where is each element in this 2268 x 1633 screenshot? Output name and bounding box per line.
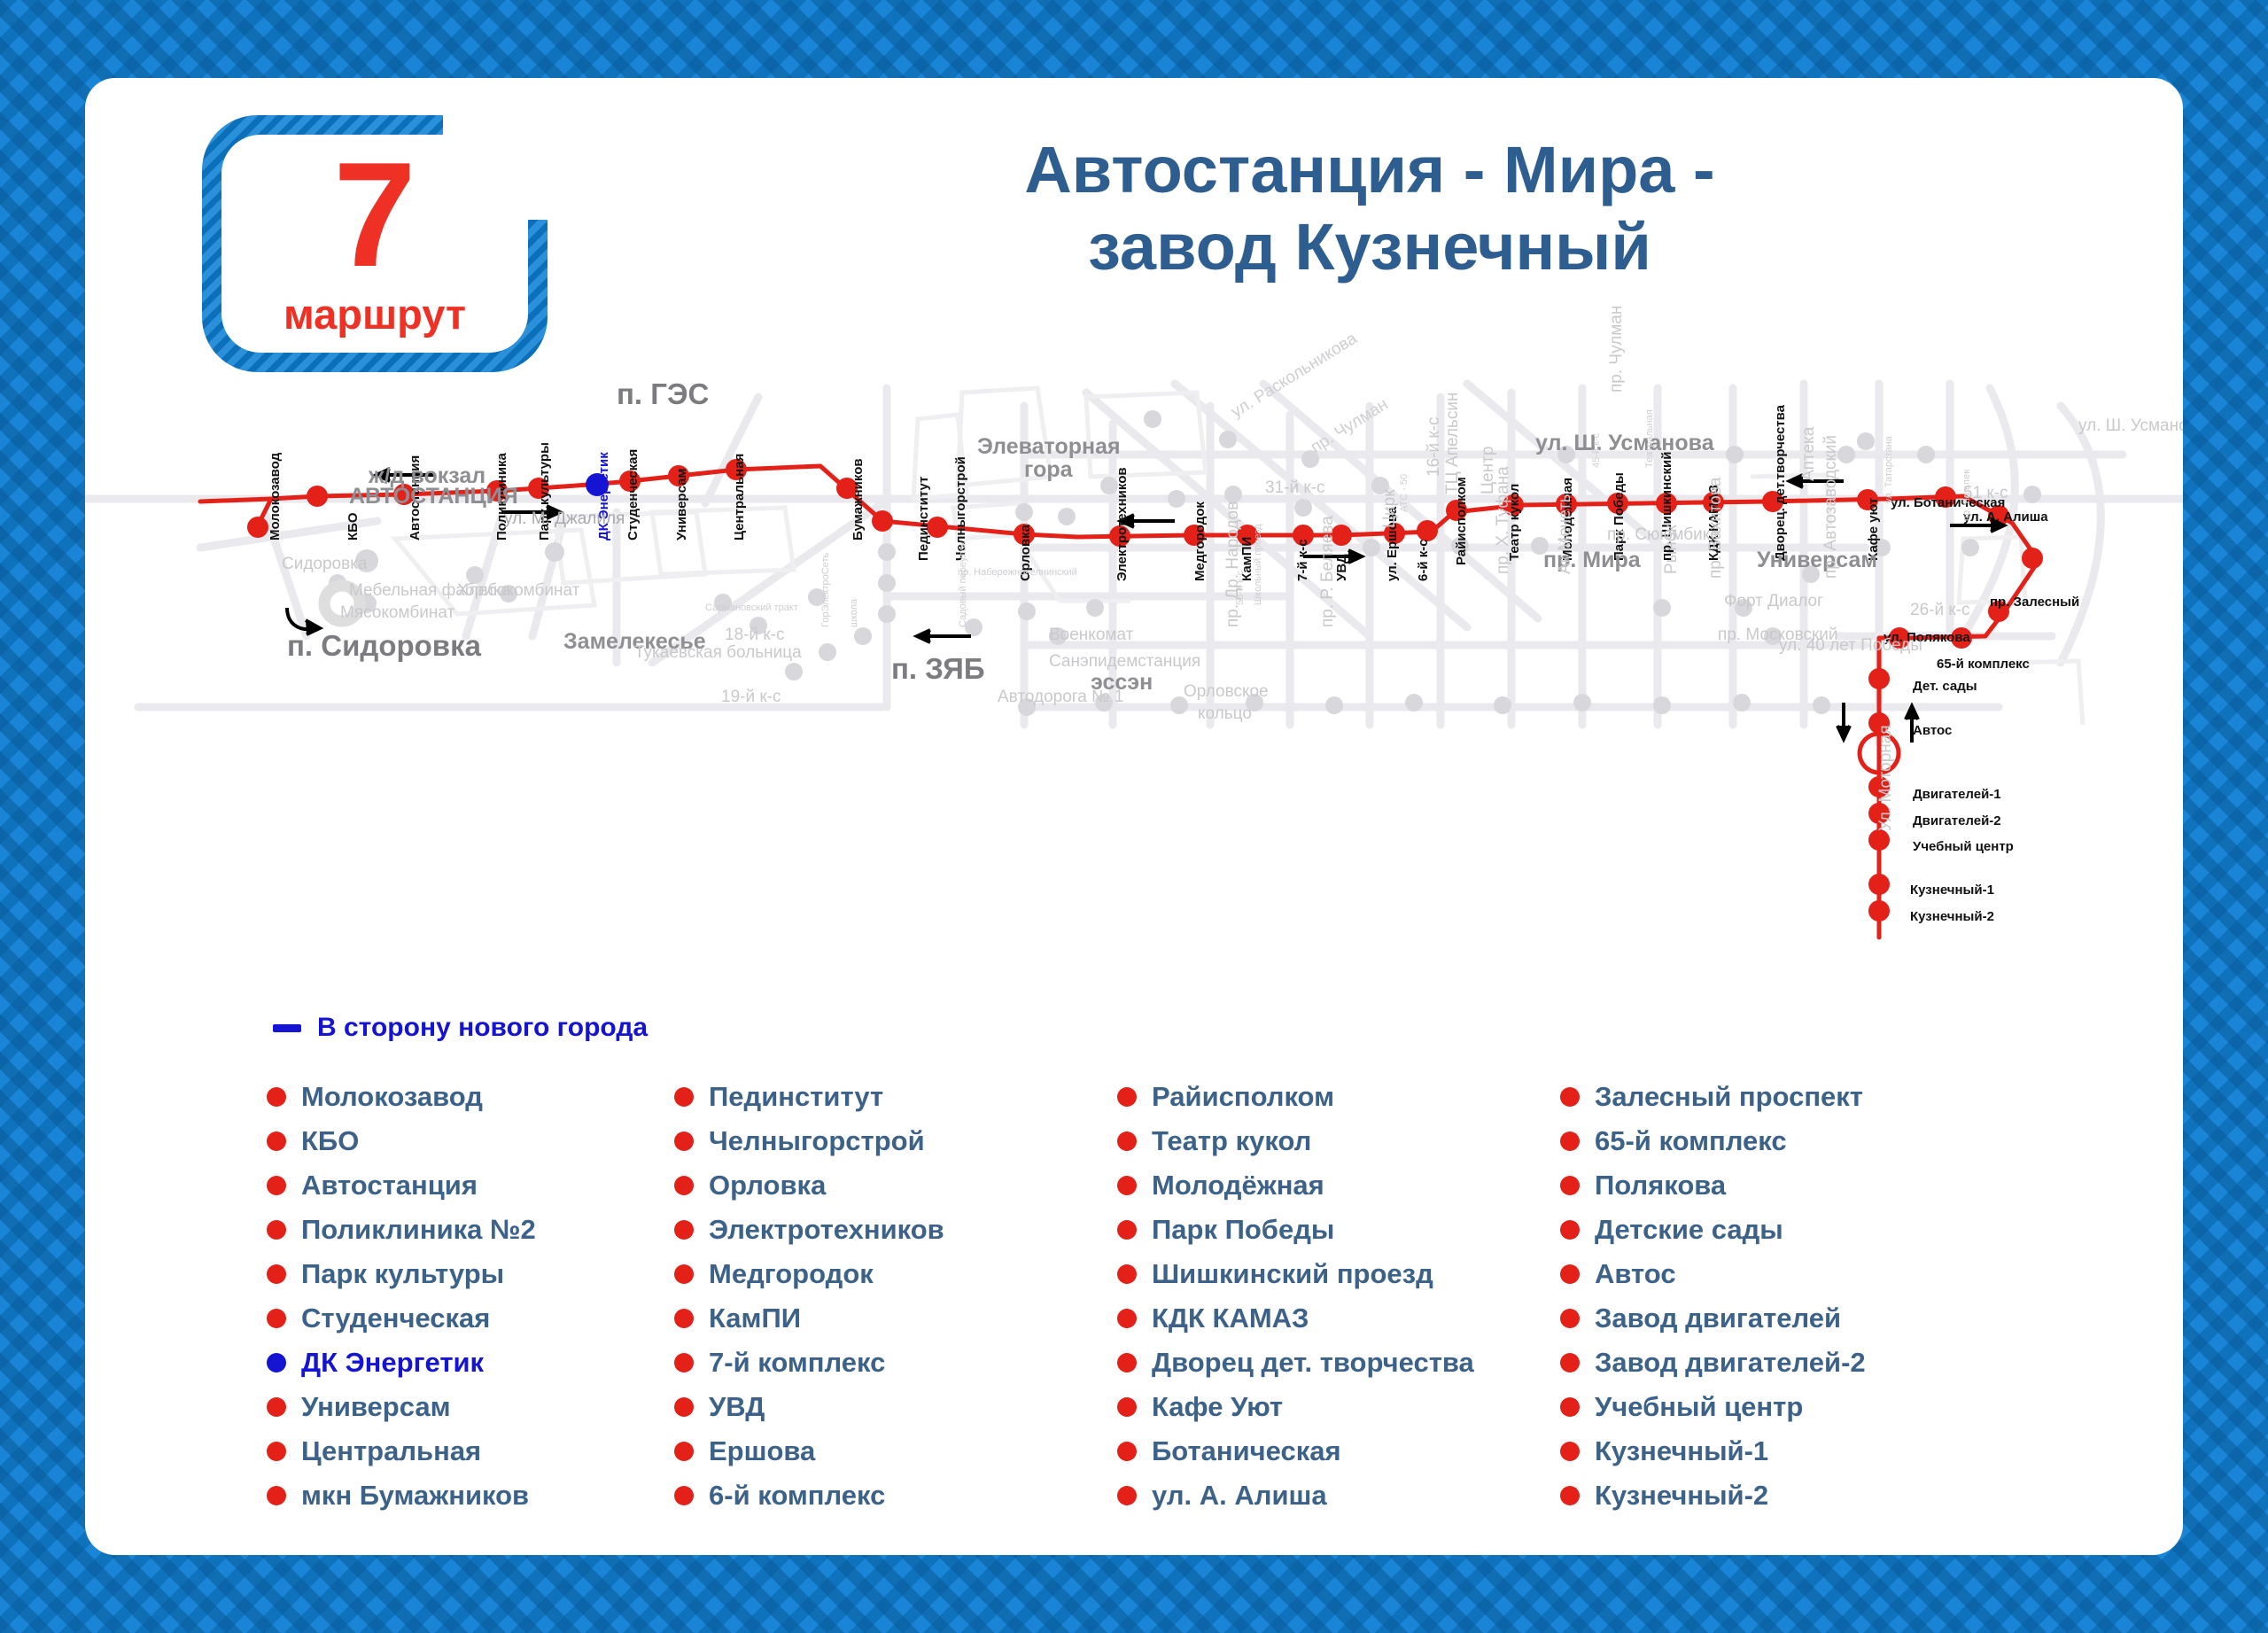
stop-list-item[interactable]: Кузнечный-2 [1560, 1474, 1985, 1518]
stop-list-item[interactable]: Ершова [674, 1429, 1117, 1474]
stop-dot-icon [1117, 1442, 1137, 1461]
map-stop-label: Пединститут [916, 477, 931, 561]
route-card: 7 маршрут Автостанция - Мира - завод Куз… [85, 78, 2183, 1555]
stop-name: мкн Бумажников [301, 1480, 529, 1512]
map-poi-label: п. ГЭС [617, 377, 709, 411]
stop-dot-icon [674, 1486, 694, 1505]
stop-dot-icon [1117, 1353, 1137, 1372]
map-poi-label: Сидоровка [282, 555, 368, 574]
stop-list-item[interactable]: Парк культуры [267, 1252, 674, 1296]
stop-list-item[interactable]: Орловка [674, 1163, 1117, 1208]
map-poi-label: ул. М. Джалиля [504, 509, 625, 529]
map-poi-label: АТС - 50 [1399, 474, 1410, 512]
route-number: 7 [202, 140, 548, 289]
map-poi-label: Военкомат [1049, 626, 1133, 645]
map-stop-label: Медгородок [1192, 502, 1208, 581]
title-line-1: Автостанция - Мира - [882, 131, 1857, 208]
map-poi-label: Элеваторная [977, 434, 1121, 460]
map-stop-label: 7-й к-с [1295, 539, 1310, 581]
stop-dot-icon [267, 1309, 286, 1328]
map-poi-label: 19-й к-с [721, 688, 781, 707]
map-poi-label: Орловское [1184, 682, 1269, 702]
stop-column-0: МолокозаводКБОАвтостанцияПоликлиника №2П… [267, 1075, 674, 1518]
stop-list-item[interactable]: Центральная [267, 1429, 674, 1474]
stop-name: ул. А. Алиша [1152, 1480, 1327, 1512]
stop-column-3: Залесный проспект65-й комплексПоляковаДе… [1560, 1075, 1985, 1518]
stop-column-2: РайисполкомТеатр куколМолодёжнаяПарк Поб… [1117, 1075, 1560, 1518]
stop-dot-icon [1560, 1176, 1580, 1195]
stop-dot-icon [674, 1397, 694, 1417]
stop-name: Автос [1595, 1258, 1676, 1290]
stop-list-item[interactable]: ДК Энергетик [267, 1341, 674, 1385]
map-poi-label: кольцо [1198, 704, 1252, 724]
stop-dot-icon [674, 1309, 694, 1328]
stop-list-item[interactable]: Автостанция [267, 1163, 674, 1208]
map-stop-label: Кузнечный-2 [1910, 909, 1994, 924]
stop-name: Завод двигателей [1595, 1303, 1841, 1334]
route-word-label: маршрут [202, 290, 548, 338]
map-poi-label: АВТОСТАНЦИЯ [349, 484, 518, 509]
stop-column-1: ПединститутЧелныгорстройОрловкаЭлектроте… [674, 1075, 1117, 1518]
map-stop-label: Автос [1913, 723, 1952, 738]
stop-dot-icon [267, 1397, 286, 1417]
stop-list-item[interactable]: 65-й комплекс [1560, 1119, 1985, 1163]
stop-list-item[interactable]: КамПИ [674, 1296, 1117, 1341]
map-poi-label: гора [1024, 457, 1073, 483]
map-poi-label: пр. Др. Народов [1223, 502, 1243, 627]
stop-dot-icon [674, 1220, 694, 1240]
map-stop-label: Молокозавод [268, 453, 283, 540]
stop-dot-icon [1560, 1087, 1580, 1107]
map-stop-label: Студенческая [625, 449, 641, 540]
stop-name: Парк Победы [1152, 1214, 1334, 1246]
stop-dot-icon [1117, 1309, 1137, 1328]
map-poi-label: п. Сидоровка [287, 629, 481, 663]
stop-list-item[interactable]: 6-й комплекс [674, 1474, 1117, 1518]
map-stop-label: Универсам [674, 468, 689, 540]
map-poi-label: п. ЗЯБ [891, 652, 985, 686]
legend-direction-dash [273, 1024, 301, 1032]
stop-name: Центральная [301, 1435, 481, 1467]
stop-dot-icon [267, 1176, 286, 1195]
stop-list-item[interactable]: Челныгорстрой [674, 1119, 1117, 1163]
stop-list-item[interactable]: Ботаническая [1117, 1429, 1560, 1474]
stop-name: Парк культуры [301, 1258, 504, 1290]
stop-name: Завод двигателей-2 [1595, 1347, 1866, 1379]
stop-name: ДК Энергетик [301, 1347, 484, 1379]
title-line-2: завод Кузнечный [882, 208, 1857, 285]
stop-list-item[interactable]: Парк Победы [1117, 1208, 1560, 1252]
map-poi-label: Автодорога № 1 [998, 688, 1123, 707]
stop-name: Театр кукол [1152, 1125, 1311, 1157]
stop-list-item[interactable]: Дворец дет. творчества [1117, 1341, 1560, 1385]
stop-name: Орловка [709, 1170, 826, 1201]
map-poi-label: ТЦ Апельсин [1443, 393, 1463, 494]
stop-dot-icon [674, 1087, 694, 1107]
stop-list-item[interactable]: Шишкинский проезд [1117, 1252, 1560, 1296]
stop-dot-icon [267, 1220, 286, 1240]
stop-dot-icon [1117, 1264, 1137, 1284]
map-poi-label: 16-й к-с [1425, 417, 1444, 478]
stop-list-item[interactable]: Медгородок [674, 1252, 1117, 1296]
map-poi-label: ГорЭлектроСеть [820, 553, 831, 627]
route-map: МолокозаводКБОАвтостанцияПоликлиникаПарк… [85, 370, 2183, 991]
stop-name: Пединститут [709, 1081, 883, 1113]
map-poi-label: пр. Чулман [1607, 306, 1627, 393]
stop-dot-icon [1117, 1176, 1137, 1195]
map-poi-label: Цирк [1380, 489, 1400, 528]
stop-dot-icon [1117, 1486, 1137, 1505]
stop-name: Медгородок [709, 1258, 874, 1290]
stop-dot-icon [1560, 1264, 1580, 1284]
stop-dot-icon [674, 1264, 694, 1284]
stop-name: Залесный проспект [1595, 1081, 1863, 1113]
stop-name: Молодёжная [1152, 1170, 1324, 1201]
map-poi-label: Ул. Моторная [1876, 725, 1896, 831]
map-poi-label: Театральная [1644, 409, 1655, 468]
stop-dot-icon [1560, 1442, 1580, 1461]
stop-dot-icon [1117, 1220, 1137, 1240]
map-poi-label: пр. Яшьлек [1961, 470, 1972, 521]
stop-name: Ботаническая [1152, 1435, 1341, 1467]
map-stop-label: пр. Залесный [1990, 595, 2079, 610]
map-poi-label: пр. Х. Туфана [1494, 466, 1513, 574]
stop-name: Учебный центр [1595, 1391, 1803, 1423]
stop-dot-icon [267, 1442, 286, 1461]
map-poi-label: 45-й к-с [1591, 433, 1602, 468]
map-stop-label: КБО [346, 512, 361, 540]
map-stop-label: Центральная [732, 454, 747, 540]
stop-list-item[interactable]: КБО [267, 1119, 674, 1163]
stop-name: Кафе Уют [1152, 1391, 1283, 1423]
map-poi-label: пр. Автозаводский [1821, 435, 1841, 579]
stop-dot-icon [267, 1087, 286, 1107]
stop-list-item[interactable]: Райисполком [1117, 1075, 1560, 1119]
stop-name: Дворец дет. творчества [1152, 1347, 1474, 1379]
map-stop-label: Дворец. дет.творчества [1773, 405, 1788, 561]
map-poi-label: Сармановский тракт [705, 603, 798, 613]
map-poi-label: Аптека [1799, 427, 1819, 481]
stop-list-item[interactable]: Универсам [267, 1385, 674, 1429]
map-poi-label: ул. Ш. Усманова [2078, 416, 2183, 436]
stop-name: 65-й комплекс [1595, 1125, 1787, 1157]
stop-name: Шишкинский проезд [1152, 1258, 1433, 1290]
map-poi-label: школа [849, 599, 859, 627]
map-stop-label: Электротехников [1115, 467, 1130, 581]
stop-dot-icon [267, 1264, 286, 1284]
legend-label: В сторону нового города [317, 1013, 648, 1043]
poster-background: 7 маршрут Автостанция - Мира - завод Куз… [0, 0, 2268, 1633]
map-poi-label: пр. Набережночелнинский [958, 567, 1077, 578]
stop-name: Поликлиника №2 [301, 1214, 536, 1246]
stop-dot-icon [267, 1486, 286, 1505]
stop-list-item[interactable]: ул. А. Алиша [1117, 1474, 1560, 1518]
map-poi-label: Универсам [1757, 548, 1877, 573]
stop-name: КДК КАМАЗ [1152, 1303, 1309, 1334]
map-stop-label: ул. А. Алиша [1963, 509, 2048, 525]
stop-dot-icon [1560, 1353, 1580, 1372]
stop-list-item[interactable]: Поликлиника №2 [267, 1208, 674, 1252]
stop-list-item[interactable]: 7-й комплекс [674, 1341, 1117, 1385]
stop-list-item[interactable]: Завод двигателей [1560, 1296, 1985, 1341]
stop-dot-icon [1117, 1131, 1137, 1151]
page-title: Автостанция - Мира - завод Кузнечный [882, 131, 1857, 286]
stop-list-item[interactable]: Молокозавод [267, 1075, 674, 1119]
stop-dot-icon [1117, 1087, 1137, 1107]
stop-list-item[interactable]: Кузнечный-1 [1560, 1429, 1985, 1474]
stop-list-item[interactable]: мкн Бумажников [267, 1474, 674, 1518]
stop-name: Челныгорстрой [709, 1125, 925, 1157]
map-poi-label: 31-й к-с [1265, 478, 1325, 498]
stop-list-item[interactable]: Молодёжная [1117, 1163, 1560, 1208]
stop-list-item[interactable]: Электротехников [674, 1208, 1117, 1252]
stop-name: Электротехников [709, 1214, 944, 1246]
map-stop-label: Кузнечный-1 [1910, 883, 1994, 898]
stop-list-item[interactable]: Завод двигателей-2 [1560, 1341, 1985, 1385]
stop-name: Ершова [709, 1435, 815, 1467]
stop-list-item[interactable]: УВД [674, 1385, 1117, 1429]
map-poi-label: пр. Сююмбике [1607, 525, 1720, 545]
stop-list-item[interactable]: Автос [1560, 1252, 1985, 1296]
stop-dot-icon [1560, 1397, 1580, 1417]
stop-dot-icon [1560, 1131, 1580, 1151]
stop-list-item[interactable]: КДК КАМАЗ [1117, 1296, 1560, 1341]
map-stop-label: Дет. сады [1913, 679, 1977, 694]
map-poi-label: пр. Р. Беляева [1318, 516, 1338, 627]
map-stop-label: Учебный центр [1913, 839, 2014, 854]
stop-name: Автостанция [301, 1170, 478, 1201]
map-stop-label: Бумажников [850, 458, 866, 540]
map-poi-label: Школьный проезд [1253, 524, 1263, 605]
stop-list-item[interactable]: Театр кукол [1117, 1119, 1560, 1163]
map-poi-label: ул. Татарстана [1884, 436, 1894, 503]
stop-name: КБО [301, 1125, 359, 1157]
map-stop-label: 6-й к-с [1416, 539, 1431, 581]
stop-list-item[interactable]: Учебный центр [1560, 1385, 1985, 1429]
stop-dot-icon [1560, 1486, 1580, 1505]
stop-name: Кузнечный-2 [1595, 1480, 1768, 1512]
map-poi-label: Мясокомбинат [340, 603, 454, 623]
stop-list-item[interactable]: Залесный проспект [1560, 1075, 1985, 1119]
stop-list-item[interactable]: Полякова [1560, 1163, 1985, 1208]
map-poi-label: 18-й к-с [725, 626, 785, 645]
stop-name: Кузнечный-1 [1595, 1435, 1768, 1467]
map-stop-label: Двигателей-1 [1913, 787, 2001, 802]
stop-list-item[interactable]: Студенческая [267, 1296, 674, 1341]
stop-dot-icon [674, 1442, 694, 1461]
stop-dot-icon [1117, 1397, 1137, 1417]
stop-dot-icon [1560, 1309, 1580, 1328]
map-poi-label: ул. Ш. Усманова [1535, 431, 1714, 456]
stop-name: Райисполком [1152, 1081, 1334, 1113]
stop-dot-icon [267, 1353, 286, 1372]
stop-list-item[interactable]: Пединститут [674, 1075, 1117, 1119]
stop-dot-icon [674, 1176, 694, 1195]
map-poi-label: Ак Мечеть [1556, 494, 1575, 574]
map-stop-label: 65-й комплекс [1937, 657, 2030, 672]
map-poi-label: Санэпидемстанция [1049, 652, 1200, 672]
map-poi-label: Тукаевская больница [634, 643, 802, 663]
map-poi-label: ул. 40 лет Победы [1779, 636, 1922, 656]
stop-list: МолокозаводКБОАвтостанцияПоликлиника №2П… [267, 1075, 2130, 1518]
stop-dot-icon [674, 1131, 694, 1151]
map-poi-label: Хлебокомбинат [457, 581, 579, 601]
map-stop-label: Двигателей-2 [1913, 813, 2001, 828]
legend: В сторону нового города [273, 1013, 648, 1043]
stop-dot-icon [267, 1131, 286, 1151]
stop-list-item[interactable]: Кафе Уют [1117, 1385, 1560, 1429]
stop-name: КамПИ [709, 1303, 801, 1334]
stop-name: Молокозавод [301, 1081, 483, 1113]
map-poi-label: Садовый переулок [958, 541, 968, 627]
map-poi-label: Форт Диалог [1724, 592, 1823, 611]
stop-name: Универсам [301, 1391, 451, 1423]
stop-dot-icon [1560, 1220, 1580, 1240]
route-number-badge: 7 маршрут [202, 115, 548, 372]
stop-name: УВД [709, 1391, 765, 1423]
stop-name: 7-й комплекс [709, 1347, 885, 1379]
stop-name: 6-й комплекс [709, 1480, 885, 1512]
stop-list-item[interactable]: Детские сады [1560, 1208, 1985, 1252]
stop-dot-icon [674, 1353, 694, 1372]
stop-name: Детские сады [1595, 1214, 1783, 1246]
stop-name: Полякова [1595, 1170, 1726, 1201]
map-poi-label: 26-й к-с [1910, 601, 1970, 620]
stop-name: Студенческая [301, 1303, 490, 1334]
